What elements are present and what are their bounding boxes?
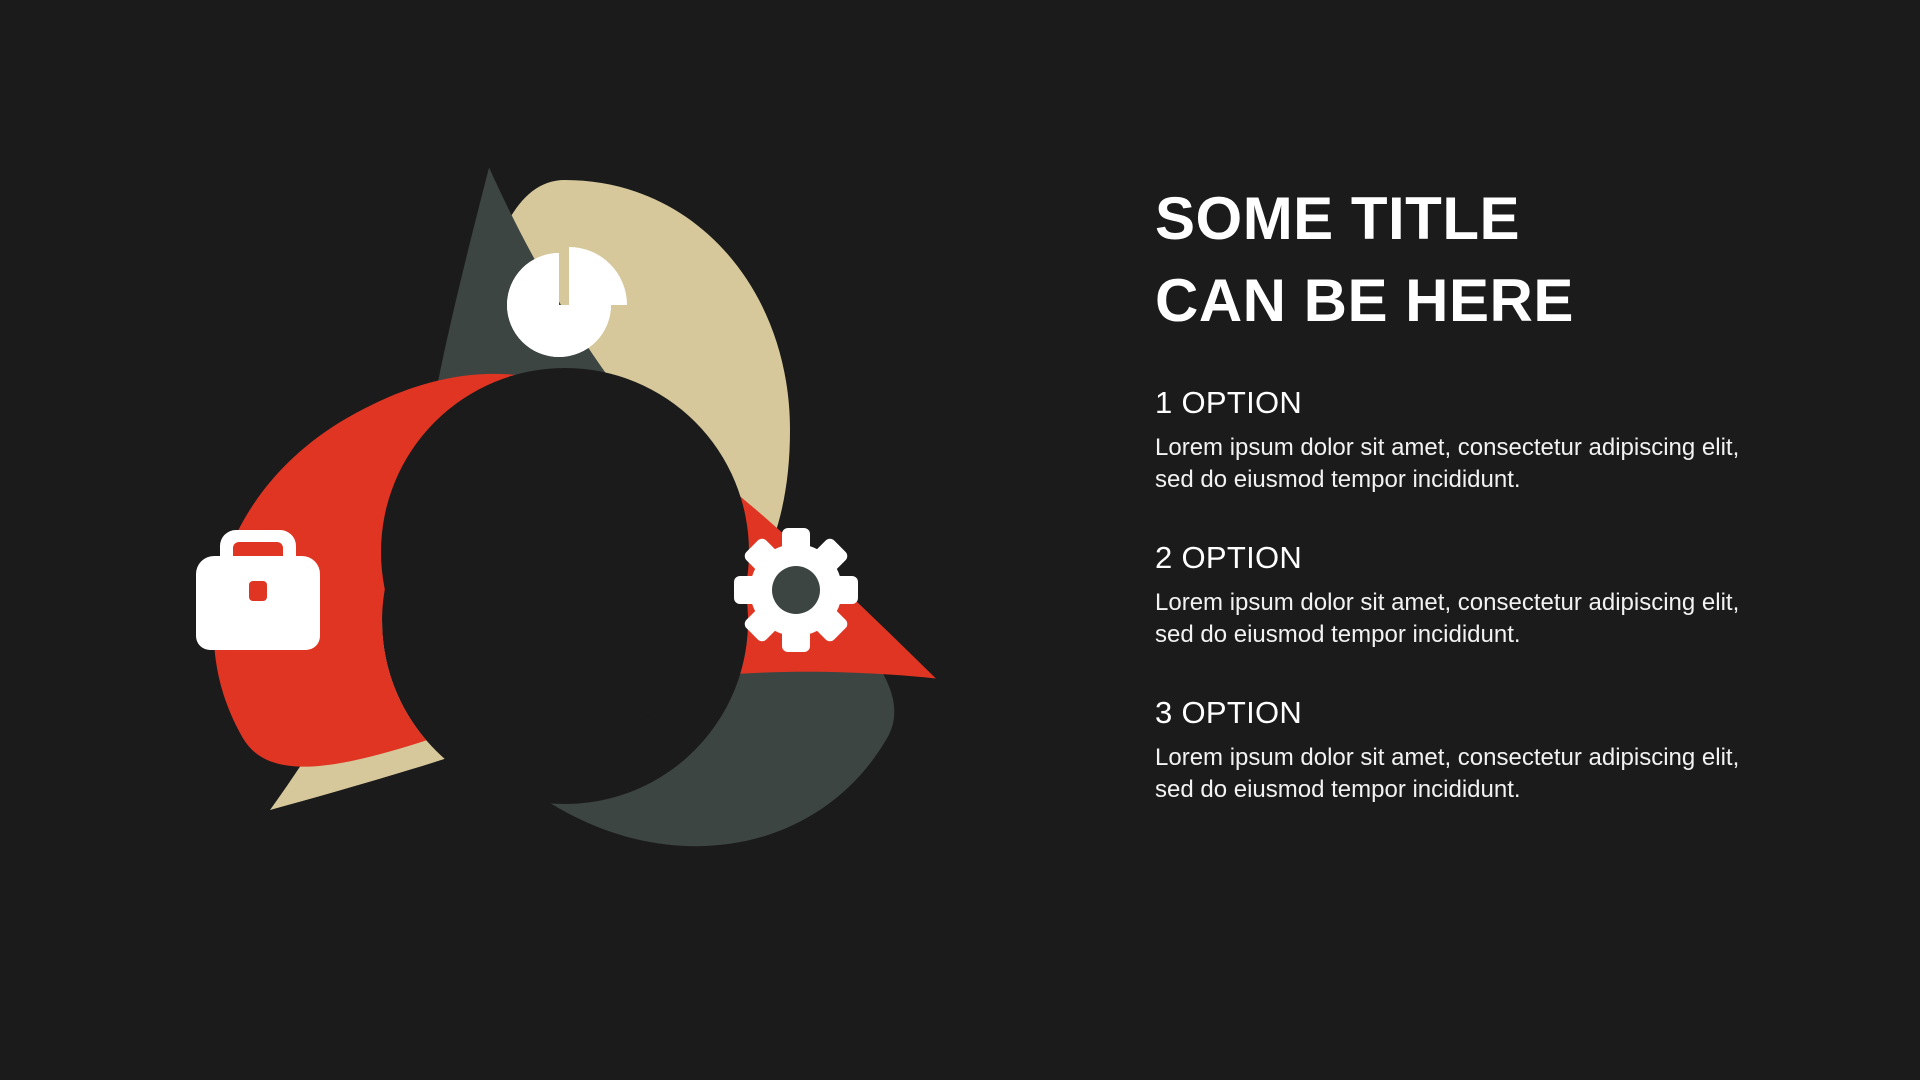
slide-canvas: Some title can be here 1 OPTION Lorem ip… [0,0,1920,1080]
option-heading-1: 1 OPTION [1155,387,1855,418]
triskelion-svg [150,120,980,950]
gear-icon [734,528,858,652]
option-body-1: Lorem ipsum dolor sit amet, consectetur … [1155,432,1780,496]
page-title: Some title can be here [1155,178,1585,341]
options-list: 1 OPTION Lorem ipsum dolor sit amet, con… [1155,387,1855,805]
center-circle [381,368,749,736]
option-body-2: Lorem ipsum dolor sit amet, consectetur … [1155,587,1780,651]
option-item-2: 2 OPTION Lorem ipsum dolor sit amet, con… [1155,542,1855,651]
option-item-1: 1 OPTION Lorem ipsum dolor sit amet, con… [1155,387,1855,496]
option-body-3: Lorem ipsum dolor sit amet, consectetur … [1155,742,1780,806]
text-panel: Some title can be here 1 OPTION Lorem ip… [1155,178,1855,341]
option-heading-3: 3 OPTION [1155,697,1855,728]
option-item-3: 3 OPTION Lorem ipsum dolor sit amet, con… [1155,697,1855,806]
triskelion-graphic [150,120,980,950]
option-heading-2: 2 OPTION [1155,542,1855,573]
